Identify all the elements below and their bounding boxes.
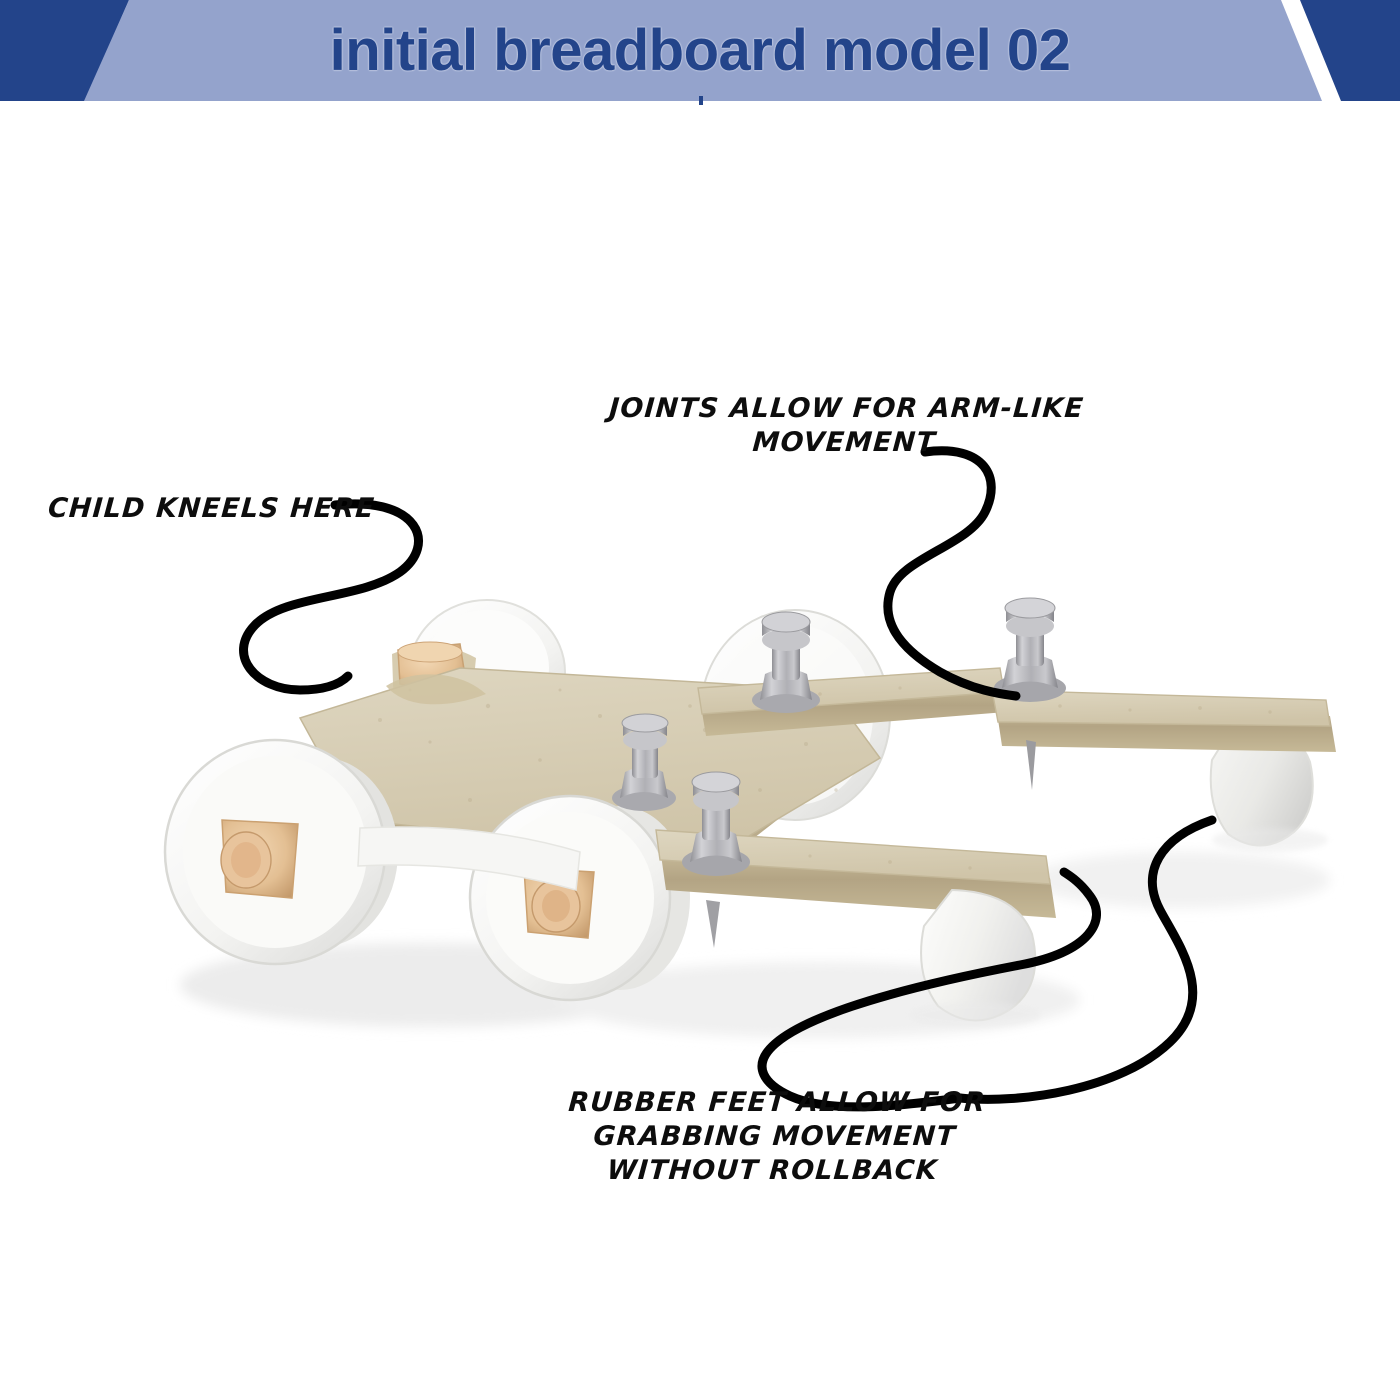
annotation-line: Rubber feet allow for	[567, 1086, 987, 1120]
annotation-line: Joints allow for arm-like	[608, 392, 1085, 426]
annotation-line: movement	[606, 426, 1083, 460]
annotation-joints-movement: Joints allow for arm-like movement	[606, 392, 1086, 460]
pin-shaft-upper	[1026, 740, 1036, 790]
annotation-rubber-feet: Rubber feet allow for grabbing movement …	[562, 1086, 987, 1188]
push-pin-joint-2	[994, 598, 1066, 702]
pin-shaft-lower	[706, 900, 720, 948]
annotation-line: grabbing movement	[565, 1120, 985, 1154]
annotation-line: Child kneels here	[47, 492, 376, 526]
annotation-child-kneels: Child kneels here	[47, 492, 376, 526]
prototype-photo	[0, 0, 1400, 1400]
page-root: initial breadboard model 02	[0, 0, 1400, 1400]
annotation-line: without rollback	[562, 1154, 982, 1188]
prototype-illustration	[0, 0, 1400, 1400]
front-wheel-right	[470, 796, 690, 1000]
